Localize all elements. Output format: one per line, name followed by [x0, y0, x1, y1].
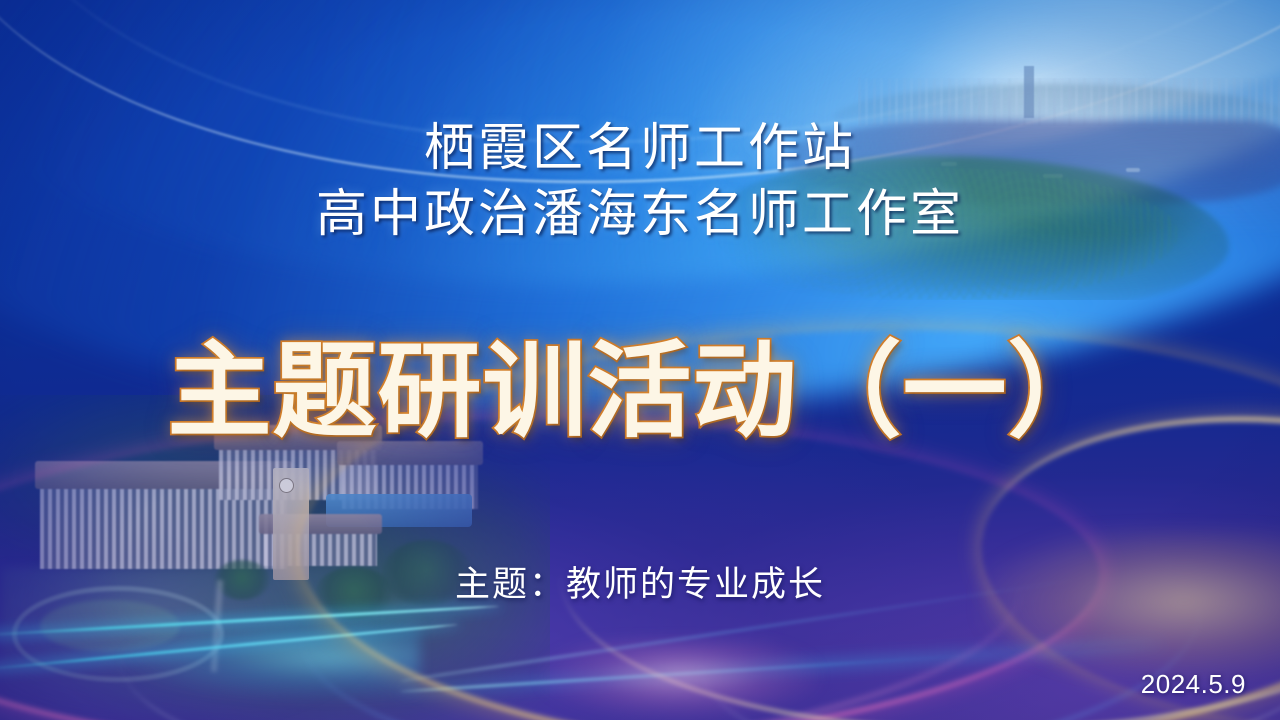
subject-label: 主题：教师的专业成长	[0, 556, 1280, 607]
presentation-slide: 栖霞区名师工作站 高中政治潘海东名师工作室 主题研训活动（一） 主题：教师的专业…	[0, 0, 1280, 720]
page-title: 主题研训活动（一）	[0, 336, 1280, 448]
date-stamp: 2024.5.9	[1141, 669, 1246, 700]
organization-line-2: 高中政治潘海东名师工作室	[0, 182, 1280, 248]
slide-content: 栖霞区名师工作站 高中政治潘海东名师工作室 主题研训活动（一） 主题：教师的专业…	[0, 0, 1280, 720]
organization-line-1: 栖霞区名师工作站	[0, 116, 1280, 182]
organization-heading: 栖霞区名师工作站 高中政治潘海东名师工作室	[0, 116, 1280, 249]
